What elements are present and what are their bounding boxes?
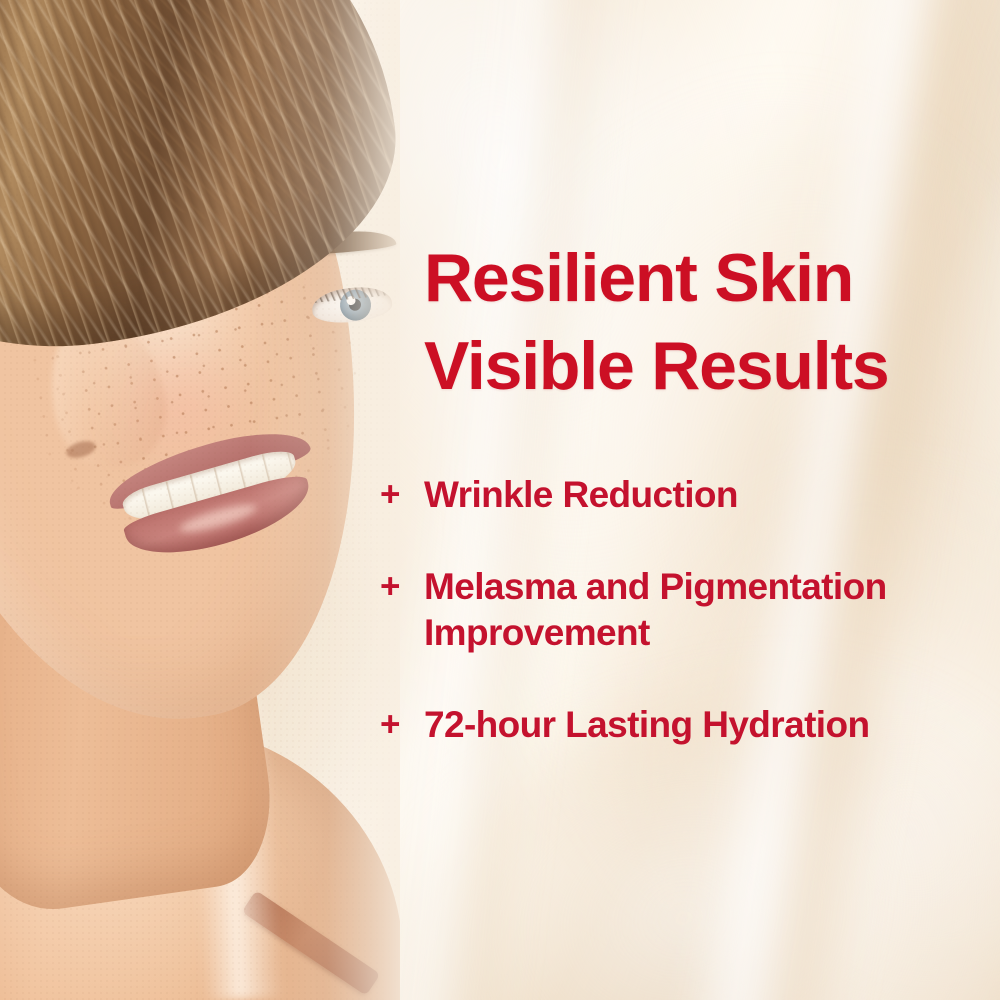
skin-texture bbox=[0, 0, 400, 1000]
skincare-promo-banner: Resilient Skin Visible Results + Wrinkle… bbox=[0, 0, 1000, 1000]
promo-copy: Resilient Skin Visible Results + Wrinkle… bbox=[380, 0, 980, 1000]
benefit-label-hydration: 72-hour Lasting Hydration bbox=[424, 702, 944, 748]
page-title: Resilient Skin Visible Results bbox=[424, 234, 964, 411]
headline-line-2: Visible Results bbox=[424, 322, 964, 410]
headline-line-1: Resilient Skin bbox=[424, 234, 964, 322]
model-photo bbox=[0, 0, 400, 1000]
plus-icon: + bbox=[380, 564, 424, 610]
benefits-list: + Wrinkle Reduction + Melasma and Pigmen… bbox=[380, 472, 980, 748]
list-item: + Melasma and Pigmentation Improvement bbox=[380, 564, 980, 656]
list-item: + 72-hour Lasting Hydration bbox=[380, 702, 980, 748]
benefit-label-melasma-pigmentation: Melasma and Pigmentation Improvement bbox=[424, 564, 944, 656]
list-item: + Wrinkle Reduction bbox=[380, 472, 980, 518]
plus-icon: + bbox=[380, 702, 424, 748]
plus-icon: + bbox=[380, 472, 424, 518]
benefit-label-wrinkle-reduction: Wrinkle Reduction bbox=[424, 472, 944, 518]
